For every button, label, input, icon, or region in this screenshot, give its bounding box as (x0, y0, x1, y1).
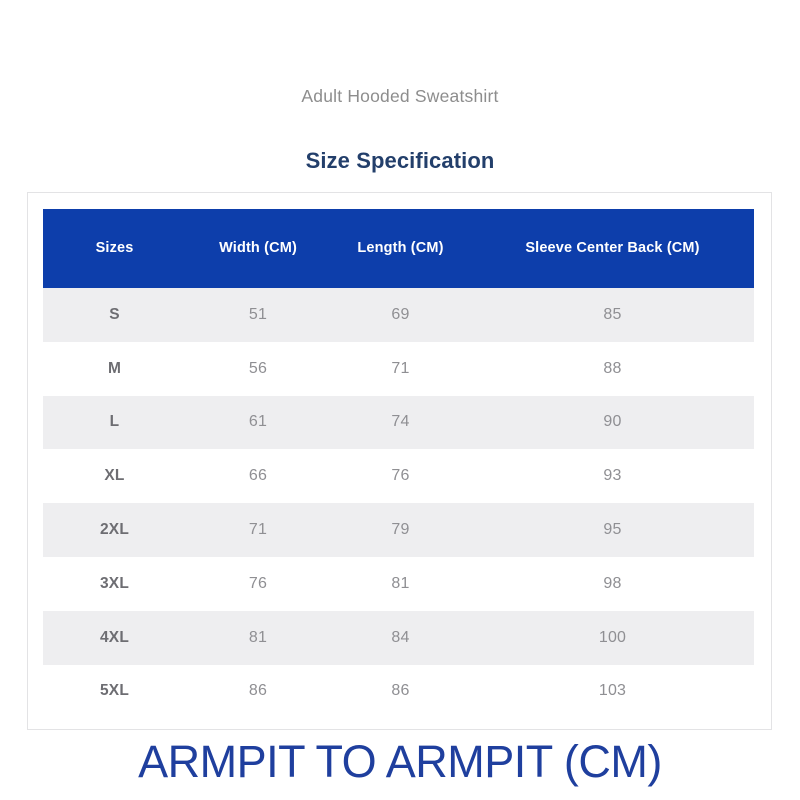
table-row: 2XL 71 79 95 (43, 503, 754, 557)
cell-size: M (43, 342, 186, 396)
cell-size: S (43, 288, 186, 342)
size-specification-table: Sizes Width (CM) Length (CM) Sleeve Cent… (43, 209, 754, 718)
cell-length: 69 (330, 288, 471, 342)
table-row: 5XL 86 86 103 (43, 665, 754, 719)
cell-width: 61 (186, 396, 330, 450)
cell-width: 71 (186, 503, 330, 557)
table-header-row: Sizes Width (CM) Length (CM) Sleeve Cent… (43, 209, 754, 288)
table-row: 3XL 76 81 98 (43, 557, 754, 611)
cell-size: 4XL (43, 611, 186, 665)
cell-length: 71 (330, 342, 471, 396)
column-header-width: Width (CM) (186, 209, 330, 288)
cell-width: 76 (186, 557, 330, 611)
column-header-sleeve: Sleeve Center Back (CM) (471, 209, 754, 288)
size-chart-page: Adult Hooded Sweatshirt Size Specificati… (0, 0, 800, 800)
cell-size: 3XL (43, 557, 186, 611)
cell-width: 51 (186, 288, 330, 342)
cell-size: XL (43, 449, 186, 503)
cell-sleeve: 98 (471, 557, 754, 611)
cell-sleeve: 85 (471, 288, 754, 342)
cell-length: 84 (330, 611, 471, 665)
cell-size: L (43, 396, 186, 450)
table-header: Sizes Width (CM) Length (CM) Sleeve Cent… (43, 209, 754, 288)
table-row: S 51 69 85 (43, 288, 754, 342)
cell-length: 74 (330, 396, 471, 450)
cell-sleeve: 103 (471, 665, 754, 719)
cell-width: 81 (186, 611, 330, 665)
column-header-length: Length (CM) (330, 209, 471, 288)
cell-length: 81 (330, 557, 471, 611)
product-subtitle: Adult Hooded Sweatshirt (0, 86, 800, 107)
table-row: 4XL 81 84 100 (43, 611, 754, 665)
cell-width: 56 (186, 342, 330, 396)
column-header-sizes: Sizes (43, 209, 186, 288)
armpit-measurement-banner: ARMPIT TO ARMPIT (CM) (0, 738, 800, 785)
table-row: L 61 74 90 (43, 396, 754, 450)
cell-width: 66 (186, 449, 330, 503)
cell-length: 76 (330, 449, 471, 503)
cell-size: 2XL (43, 503, 186, 557)
cell-sleeve: 90 (471, 396, 754, 450)
cell-length: 79 (330, 503, 471, 557)
table-row: M 56 71 88 (43, 342, 754, 396)
table-row: XL 66 76 93 (43, 449, 754, 503)
table-body: S 51 69 85 M 56 71 88 L 61 74 90 (43, 288, 754, 718)
cell-sleeve: 100 (471, 611, 754, 665)
cell-size: 5XL (43, 665, 186, 719)
cell-sleeve: 88 (471, 342, 754, 396)
size-table-card: Sizes Width (CM) Length (CM) Sleeve Cent… (27, 192, 772, 730)
cell-sleeve: 95 (471, 503, 754, 557)
cell-width: 86 (186, 665, 330, 719)
cell-length: 86 (330, 665, 471, 719)
cell-sleeve: 93 (471, 449, 754, 503)
page-title: Size Specification (0, 148, 800, 174)
